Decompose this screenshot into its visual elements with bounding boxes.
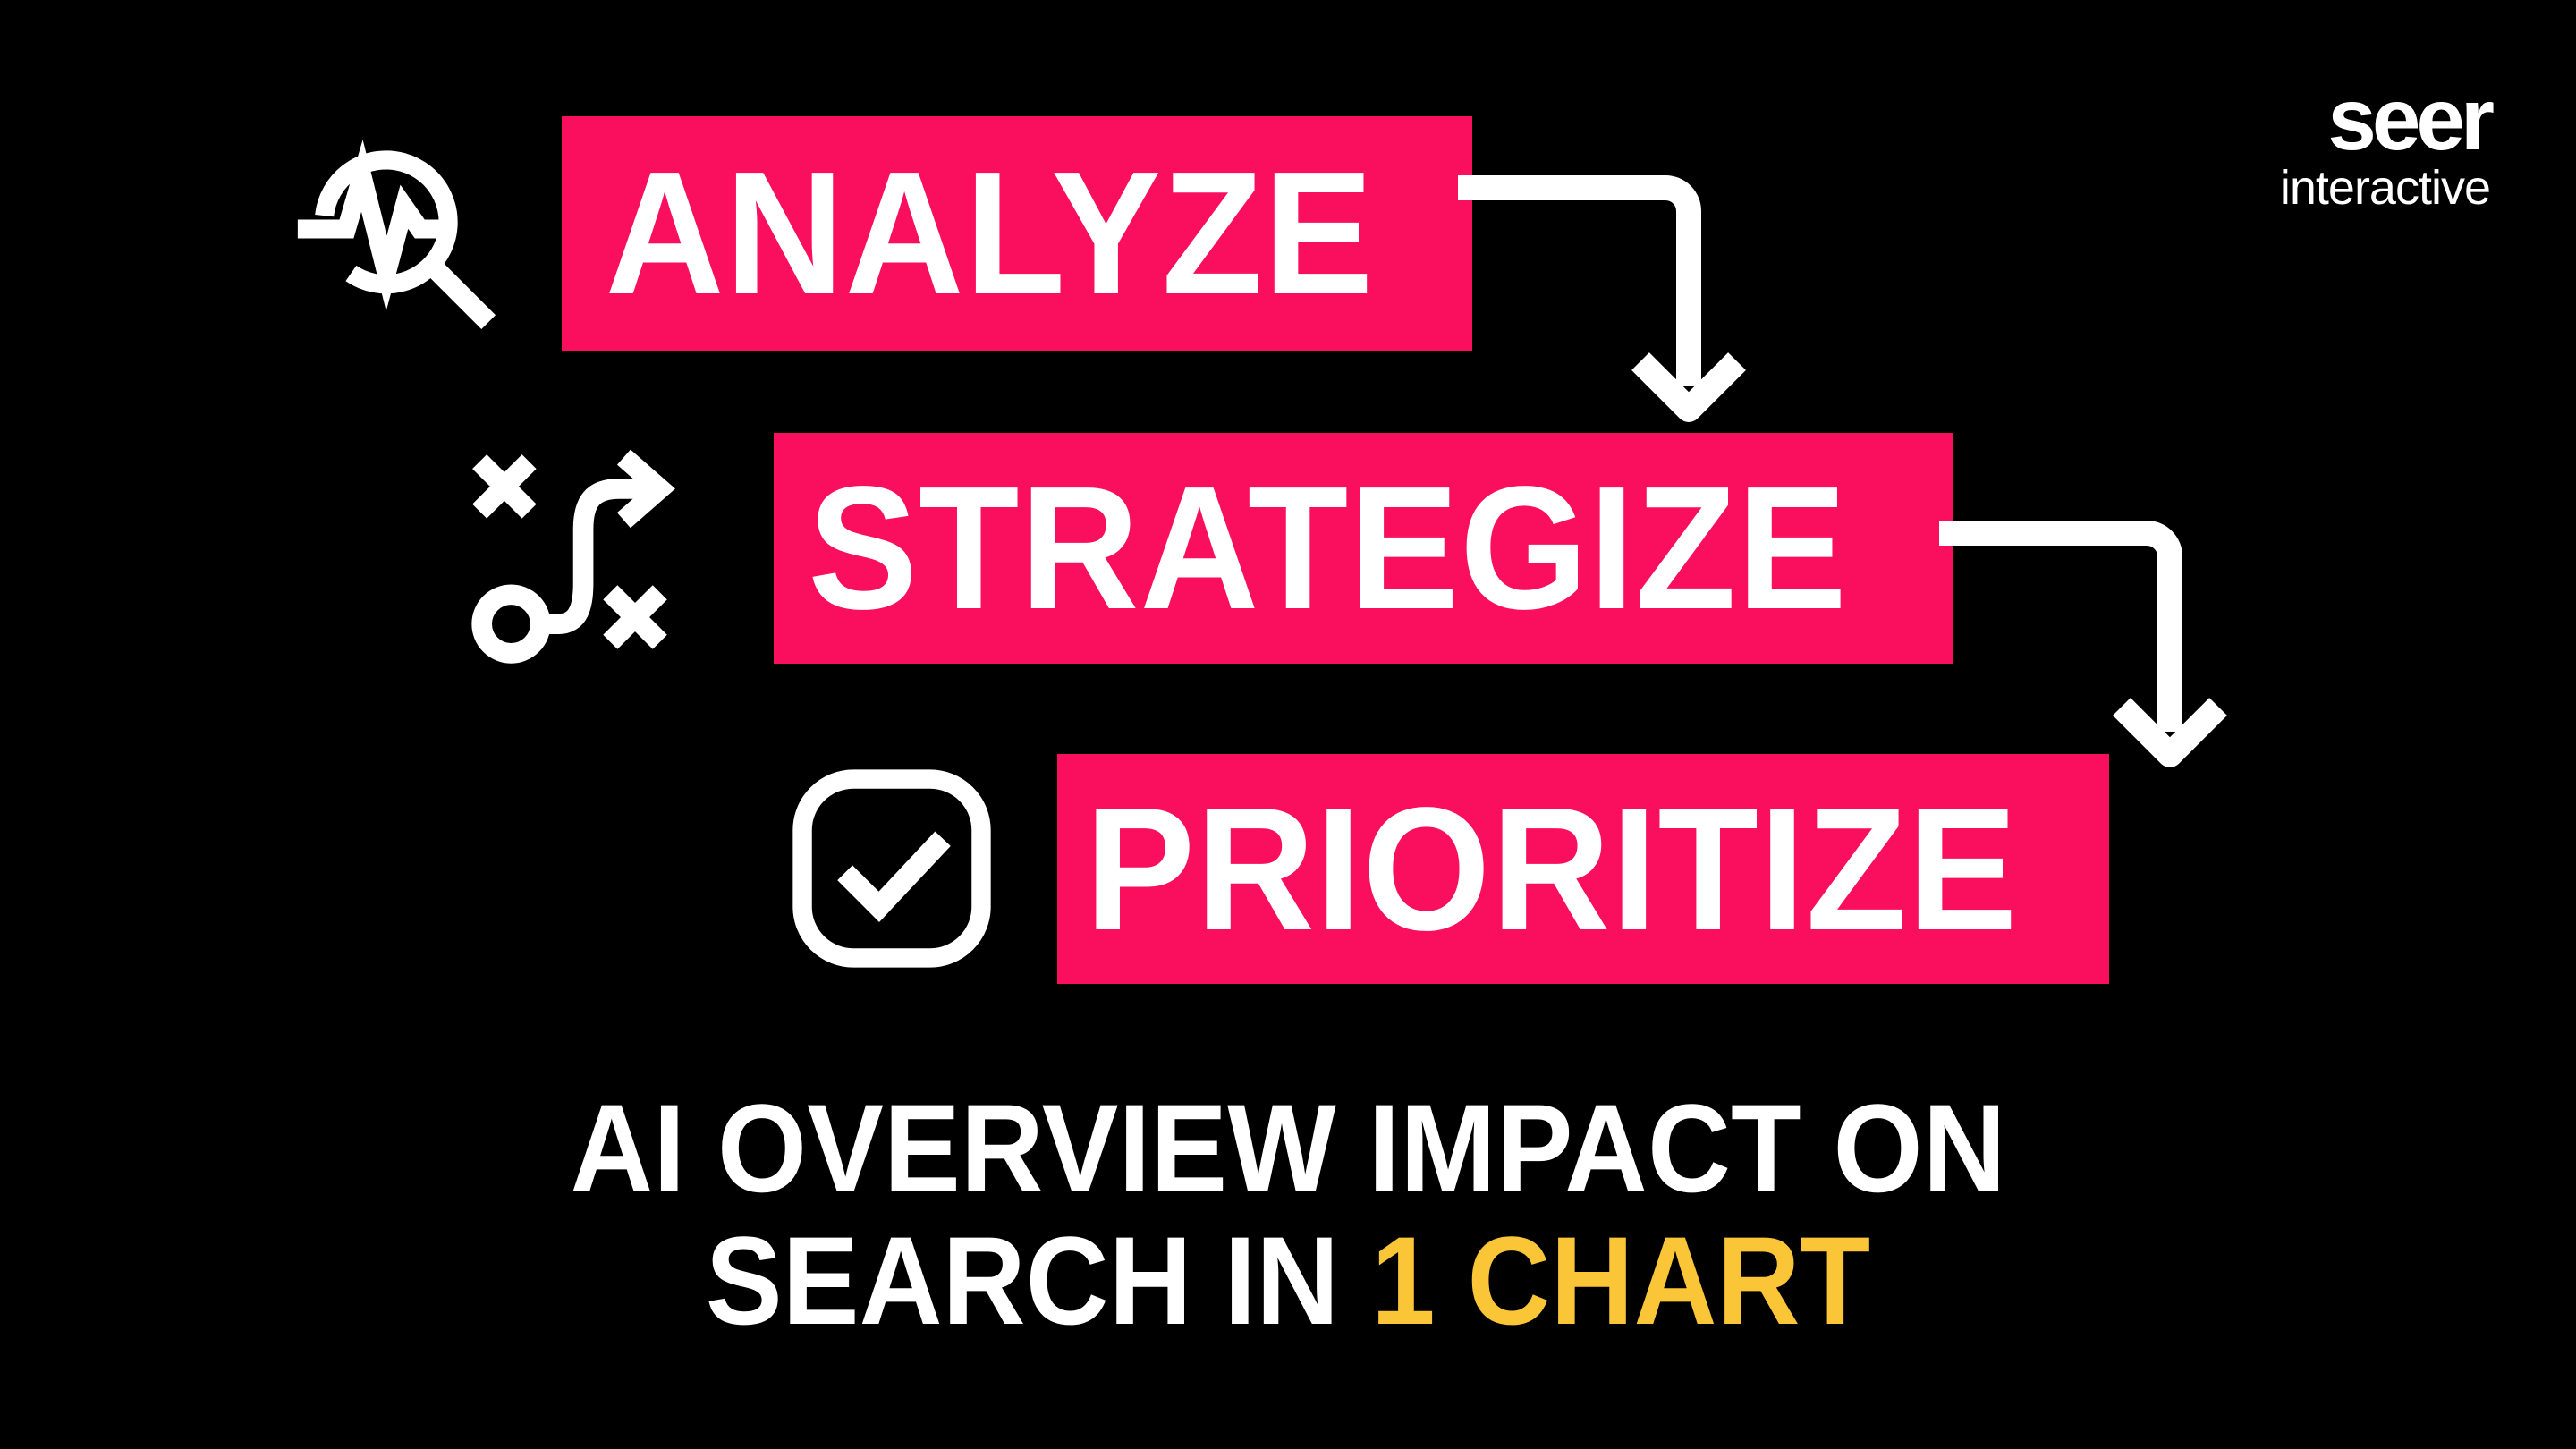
connector-strategize-to-prioritize	[1939, 506, 2234, 792]
step-label-prioritize: PRIORITIZE	[1057, 782, 2046, 957]
step-label-analyze: ANALYZE	[562, 146, 1418, 321]
seer-interactive-logo: seer interactive	[2280, 79, 2490, 214]
step-banner-analyze: ANALYZE	[562, 116, 1472, 351]
subtitle-highlight: 1 CHART	[1371, 1210, 1870, 1351]
checkbox-check-icon	[785, 762, 998, 975]
connector-analyze-to-strategize	[1458, 161, 1753, 447]
subtitle-line-2-prefix: SEARCH IN	[706, 1210, 1371, 1351]
step-banner-prioritize: PRIORITIZE	[1057, 754, 2109, 984]
subtitle-line-1: AI OVERVIEW IMPACT ON	[103, 1082, 2473, 1215]
strategy-path-icon	[462, 444, 687, 669]
subtitle-line-2: SEARCH IN 1 CHART	[103, 1215, 2473, 1347]
logo-tagline: interactive	[2280, 163, 2490, 214]
poster-canvas: seer interactive ANALYZE	[0, 0, 2576, 1449]
magnifier-pulse-icon	[284, 118, 506, 340]
step-label-strategize: STRATEGIZE	[774, 461, 1882, 636]
subtitle-block: AI OVERVIEW IMPACT ON SEARCH IN 1 CHART	[0, 1082, 2576, 1348]
step-banner-strategize: STRATEGIZE	[774, 433, 1953, 664]
logo-wordmark: seer	[2280, 79, 2490, 159]
